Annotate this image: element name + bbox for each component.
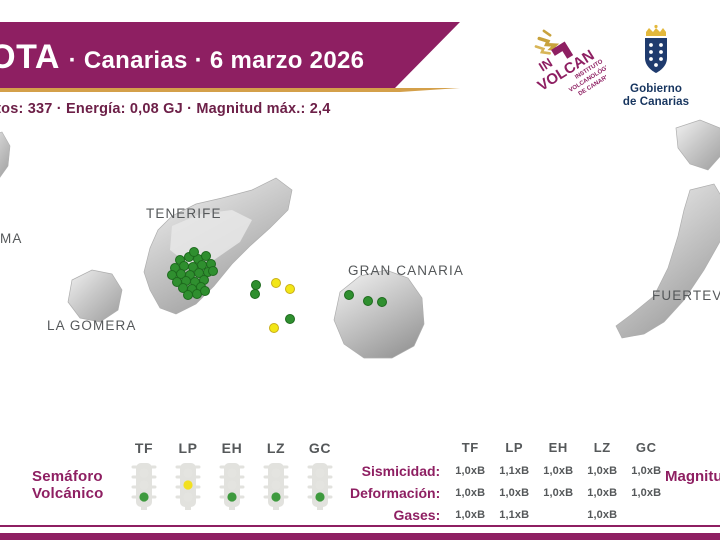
island-label-gran-canaria: GRAN CANARIA xyxy=(348,263,464,278)
page-title: YOTA · Canarias · 6 marzo 2026 xyxy=(0,38,364,77)
table-cell: 1,0xB xyxy=(536,460,580,482)
semaforo-column-header: LP xyxy=(166,440,210,456)
table-column-header-lp: LP xyxy=(492,440,536,460)
table-column-header-gc: GC xyxy=(624,440,668,460)
traffic-light-icon xyxy=(219,460,245,510)
table-row-label: Sismicidad: xyxy=(350,460,448,482)
traffic-light-icon xyxy=(263,460,289,510)
canary-islands-map[interactable]: MA TENERIFE LA GOMERA GRAN CANARIA FUERT… xyxy=(0,118,720,418)
table-cell: 1,1xB xyxy=(492,460,536,482)
semaforo-column-lp: LP xyxy=(166,440,210,510)
table-body: Sismicidad:1,0xB1,1xB1,0xB1,0xB1,0xBDefo… xyxy=(350,460,668,526)
table-row: Deformación:1,0xB1,0xB1,0xB1,0xB1,0xB xyxy=(350,482,668,504)
earthquake-marker[interactable] xyxy=(363,296,373,306)
earthquake-marker[interactable] xyxy=(377,297,387,307)
island-la-palma xyxy=(0,132,10,180)
semaforo-column-header: TF xyxy=(122,440,166,456)
semaforo-column-header: EH xyxy=(210,440,254,456)
table-cell: 1,0xB xyxy=(448,482,492,504)
table-corner xyxy=(350,440,448,460)
earthquake-marker[interactable] xyxy=(200,286,210,296)
traffic-light-icon xyxy=(307,460,333,510)
island-label-la-palma: MA xyxy=(0,231,22,246)
table-row-label: Gases: xyxy=(350,504,448,526)
island-lanzarote xyxy=(676,120,720,170)
summary-stats: motos: 337 · Energía: 0,08 GJ · Magnitud… xyxy=(0,101,330,117)
earthquake-marker[interactable] xyxy=(269,323,279,333)
semaforo-column-gc: GC xyxy=(298,440,342,510)
volcanic-activity-infographic: YOTA · Canarias · 6 marzo 2026 motos: 33… xyxy=(0,0,720,540)
gobierno-line-1: Gobierno xyxy=(608,83,704,96)
table-column-header-tf: TF xyxy=(448,440,492,460)
traffic-light-icon xyxy=(175,460,201,510)
earthquake-marker[interactable] xyxy=(285,314,295,324)
semaforo-column-header: GC xyxy=(298,440,342,456)
earthquake-marker[interactable] xyxy=(189,247,199,257)
table-row-label: Deformación: xyxy=(350,482,448,504)
table-cell: 1,0xB xyxy=(448,460,492,482)
table-cell: 1,0xB xyxy=(492,482,536,504)
island-fuerteventura xyxy=(616,184,720,338)
involcan-logo: IN VOLCAN INSTITUTO VOLCANOLÓGICO DE CAN… xyxy=(528,22,606,104)
table-header-row: TFLPEHLZGC xyxy=(350,440,668,460)
table-cell: 1,1xB xyxy=(492,504,536,526)
semaforo-label-line-2: Volcánico xyxy=(32,485,104,502)
table-cell xyxy=(624,504,668,526)
table-cell: 1,0xB xyxy=(580,504,624,526)
footer-bar xyxy=(0,533,720,540)
semaforo-column-lz: LZ xyxy=(254,440,298,510)
table-cell xyxy=(536,504,580,526)
earthquake-marker[interactable] xyxy=(208,266,218,276)
title-main: YOTA xyxy=(0,38,59,76)
table-cell: 1,0xB xyxy=(448,504,492,526)
table-row: Gases:1,0xB1,1xB1,0xB xyxy=(350,504,668,526)
table-cell: 1,0xB xyxy=(536,482,580,504)
earthquake-marker[interactable] xyxy=(344,290,354,300)
semaforo-column-eh: EH xyxy=(210,440,254,510)
indicators-table: TFLPEHLZGC Sismicidad:1,0xB1,1xB1,0xB1,0… xyxy=(350,440,668,526)
earthquake-marker[interactable] xyxy=(285,284,295,294)
island-label-tenerife: TENERIFE xyxy=(146,206,222,221)
island-label-fuerteventura: FUERTEVEN xyxy=(652,288,720,303)
island-label-la-gomera: LA GOMERA xyxy=(47,318,136,333)
footer-hairline xyxy=(0,525,720,527)
table-cell: 1,0xB xyxy=(580,482,624,504)
traffic-light-icon xyxy=(131,460,157,510)
canarias-coat-of-arms-icon xyxy=(608,24,704,76)
island-la-gomera xyxy=(68,270,122,322)
semaforo-column-header: LZ xyxy=(254,440,298,456)
semaforo-volcanico-label: Semáforo Volcánico xyxy=(32,468,104,502)
table-cell: 1,0xB xyxy=(624,482,668,504)
semaforo-label-line-1: Semáforo xyxy=(32,468,104,485)
table-cell: 1,0xB xyxy=(580,460,624,482)
table-column-header-lz: LZ xyxy=(580,440,624,460)
gobierno-de-canarias-logo: Gobierno de Canarias xyxy=(608,24,704,102)
crown-icon xyxy=(646,28,666,36)
shield-icon xyxy=(645,38,667,73)
gobierno-line-2: de Canarias xyxy=(608,96,704,109)
earthquake-marker[interactable] xyxy=(271,278,281,288)
title-subtitle: · Canarias · 6 marzo 2026 xyxy=(69,47,365,74)
banner-gold-underline xyxy=(0,88,460,92)
island-gran-canaria xyxy=(334,270,424,358)
involcan-logo-icon: IN VOLCAN INSTITUTO VOLCANOLÓGICO DE CAN… xyxy=(528,22,606,104)
semaforo-column-tf: TF xyxy=(122,440,166,510)
magnitud-legend-label: Magnitu xyxy=(665,468,720,485)
table-cell: 1,0xB xyxy=(624,460,668,482)
earthquake-marker[interactable] xyxy=(250,289,260,299)
table-column-header-eh: EH xyxy=(536,440,580,460)
table-row: Sismicidad:1,0xB1,1xB1,0xB1,0xB1,0xB xyxy=(350,460,668,482)
